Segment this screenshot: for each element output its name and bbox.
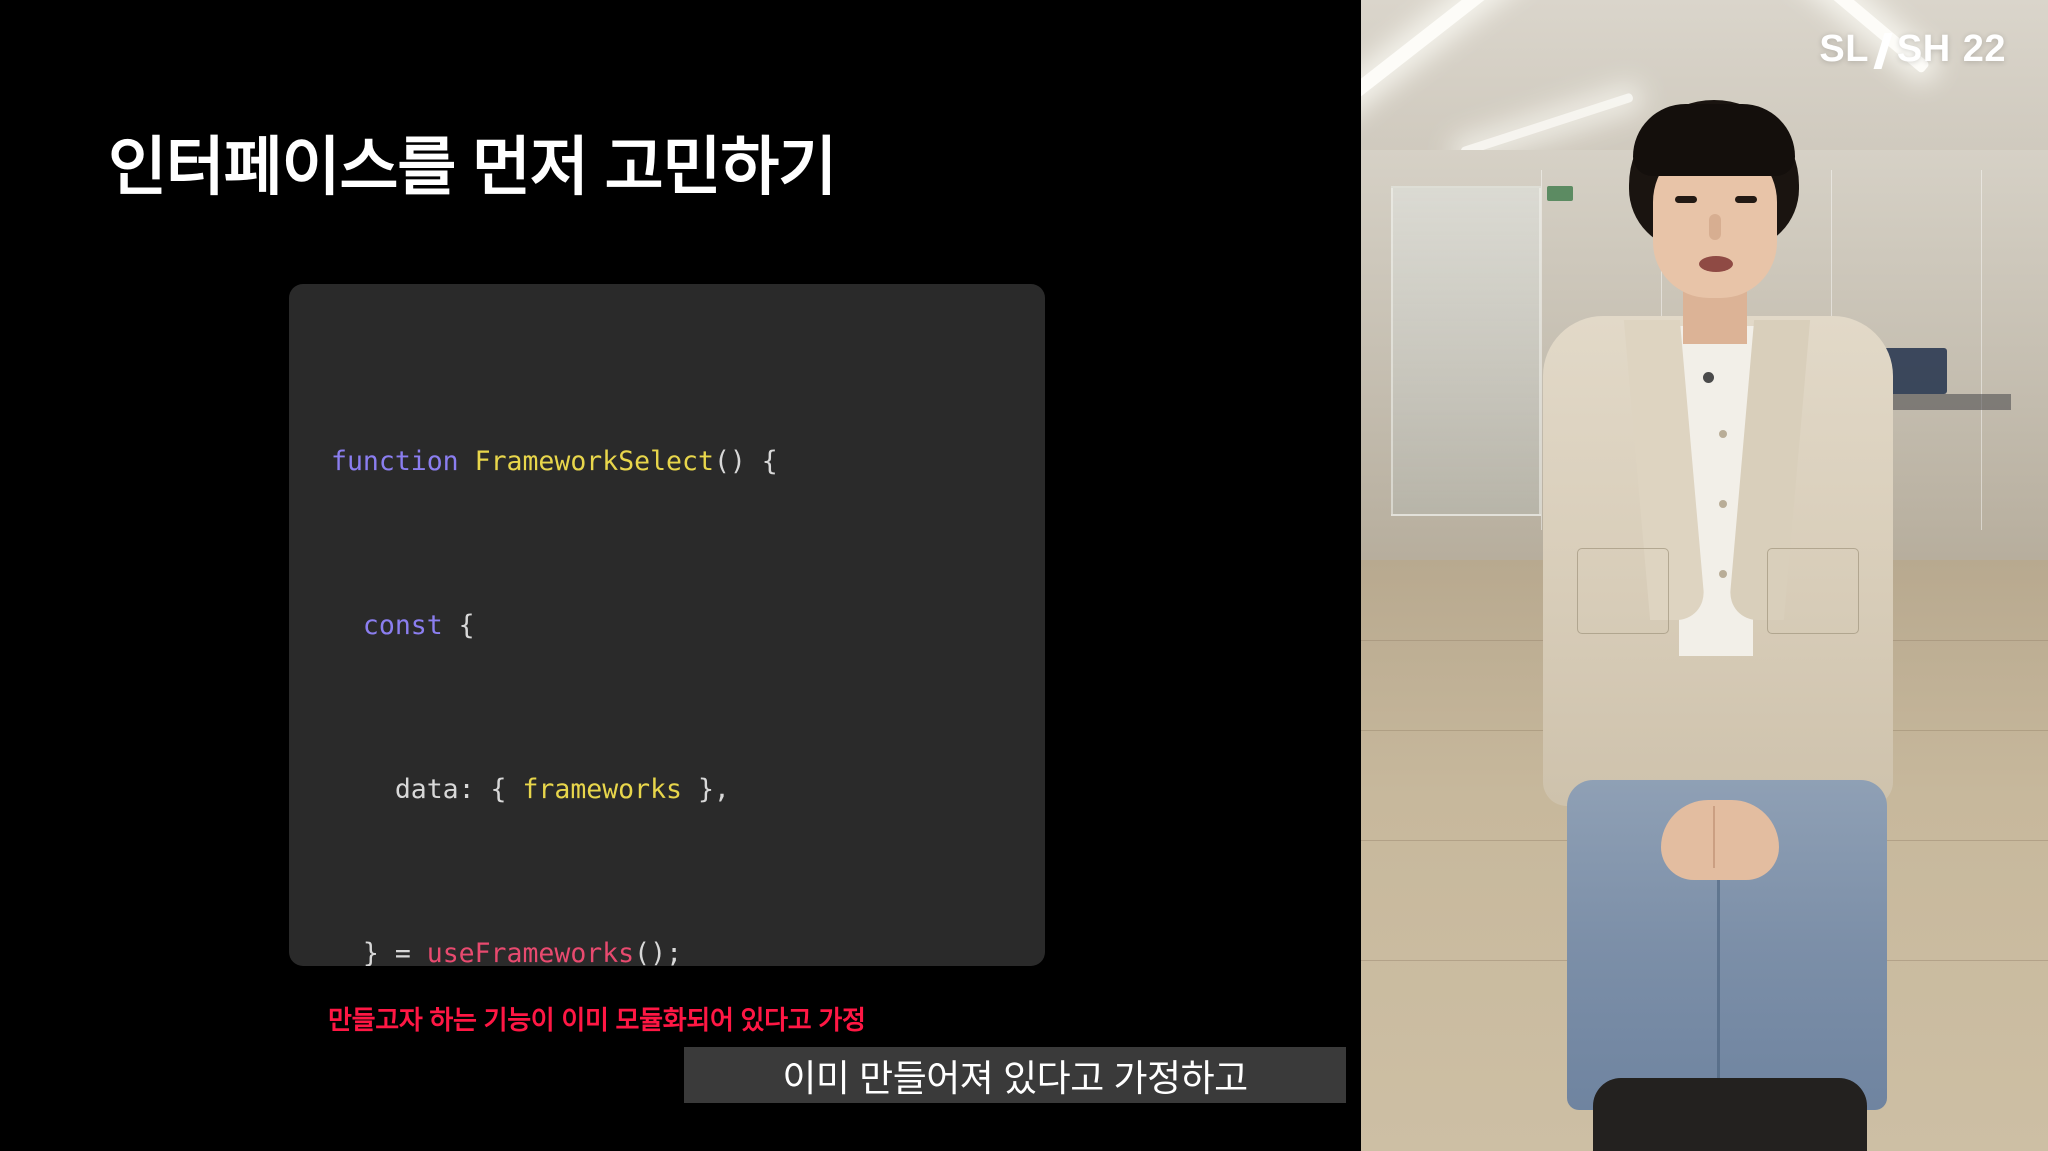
lapel-microphone: [1703, 372, 1714, 383]
token-punct: {: [443, 610, 475, 641]
slash-a-icon: [1870, 31, 1896, 69]
token-hook: useFrameworks: [427, 938, 634, 966]
slide-title: 인터페이스를 먼저 고민하기: [108, 116, 836, 208]
token-keyword: function: [331, 446, 459, 477]
slide-panel: 인터페이스를 먼저 고민하기 function FrameworkSelect(…: [0, 0, 1361, 1151]
pink-annotation-caption: 만들고자 하는 기능이 이미 모듈화되어 있다고 가정: [328, 1000, 866, 1037]
stool: [1593, 1078, 1867, 1151]
token-punct: },: [682, 774, 730, 805]
code-line: function FrameworkSelect() {: [331, 441, 1045, 482]
clasped-hands: [1661, 800, 1779, 880]
code-line: data: { frameworks },: [331, 769, 1045, 810]
slash-22-logo: SLSH22: [1819, 28, 2006, 71]
token-indent: [331, 610, 363, 641]
token-variable: frameworks: [522, 774, 682, 805]
hand-detail: [1713, 806, 1715, 868]
jacket-button: [1719, 500, 1727, 508]
jacket-pocket-right: [1767, 548, 1859, 634]
mouth: [1699, 256, 1733, 272]
speaker-person: [1361, 0, 2048, 1151]
eye-left: [1675, 196, 1697, 203]
nose: [1709, 214, 1721, 240]
code-line: } = useFrameworks();: [331, 933, 1045, 966]
subtitle-text: 이미 만들어져 있다고 가정하고: [782, 1048, 1247, 1102]
code-block: function FrameworkSelect() { const { dat…: [289, 284, 1045, 966]
token-punct: ();: [634, 938, 682, 966]
token-punct: } =: [331, 938, 427, 966]
eye-right: [1735, 196, 1757, 203]
jacket-button: [1719, 570, 1727, 578]
code-line: const {: [331, 605, 1045, 646]
token-punct: data: {: [331, 774, 522, 805]
token-function-name: FrameworkSelect: [475, 446, 714, 477]
token-punct: () {: [714, 446, 778, 477]
jacket-pocket-left: [1577, 548, 1669, 634]
video-panel: SLSH22: [1361, 0, 2048, 1151]
hair-bangs: [1633, 104, 1795, 176]
token-keyword: const: [363, 610, 443, 641]
logo-year: 22: [1963, 28, 2006, 71]
presentation-screenshot: 인터페이스를 먼저 고민하기 function FrameworkSelect(…: [0, 0, 2048, 1151]
code-content: function FrameworkSelect() { const { dat…: [289, 318, 1045, 966]
logo-text-suffix: SH: [1897, 28, 1951, 71]
token-space: [459, 446, 475, 477]
subtitle-overlay: 이미 만들어져 있다고 가정하고: [684, 1047, 1346, 1103]
jacket-button: [1719, 430, 1727, 438]
logo-text-prefix: SL: [1819, 28, 1869, 71]
